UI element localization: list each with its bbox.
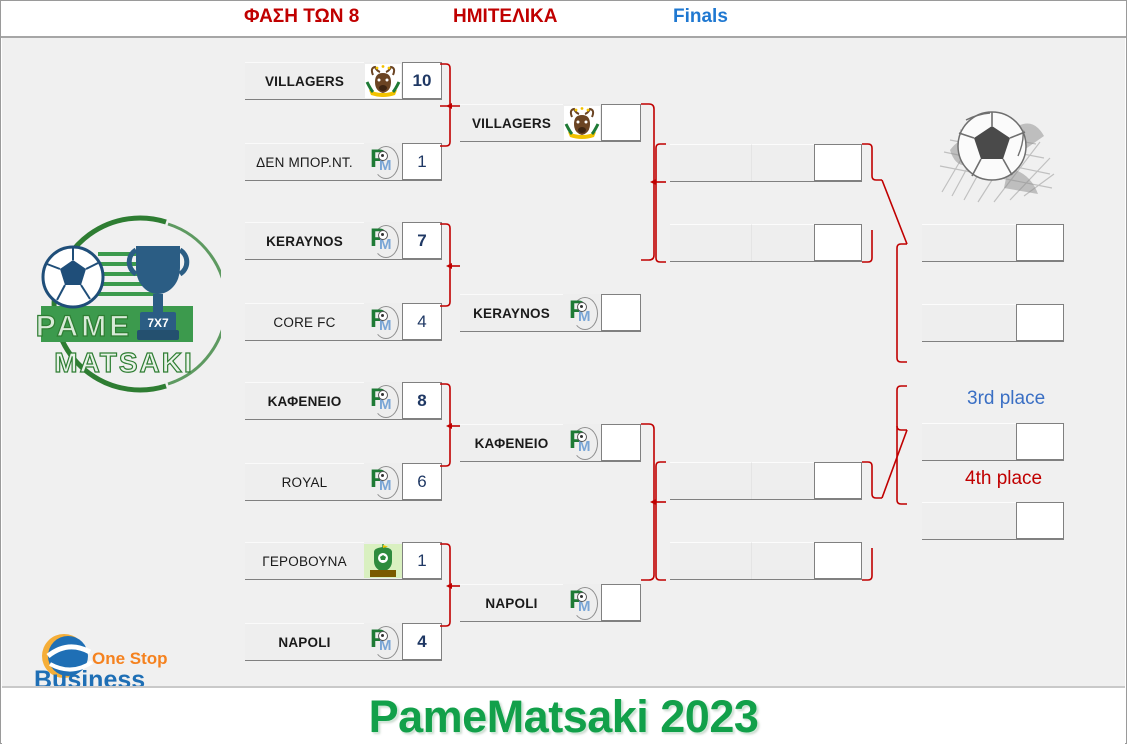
team-logo-pame-matsaki: PM — [563, 424, 601, 461]
qf-slot-m1-t1[interactable]: VILLAGERS — [245, 62, 442, 100]
team-name: VILLAGERS — [245, 62, 364, 99]
footer-title: PameMatsaki 2023 — [369, 691, 759, 743]
winner-slot-1[interactable] — [922, 224, 1064, 262]
third-team-name-2 — [670, 542, 751, 579]
team-score: 4 — [402, 623, 442, 660]
third-slot-1[interactable] — [670, 462, 862, 500]
pame-matsaki-main-logo: 7X7 PAME MATSAKI — [16, 210, 221, 398]
team-logo-pame-matsaki: PM — [364, 222, 402, 259]
final-spacer-1 — [751, 144, 814, 181]
winner-score-2 — [1016, 304, 1064, 341]
team-name: KERAYNOS — [245, 222, 364, 259]
sf-slot-m1-t1[interactable]: VILLAGERS — [460, 104, 641, 142]
team-logo-pame-matsaki: PM — [364, 463, 402, 500]
round-label-semifinals: ΗΜΙΤΕΛΙΚΑ — [453, 6, 558, 28]
team-score: 4 — [402, 303, 442, 340]
svg-text:7X7: 7X7 — [147, 316, 169, 330]
qf-slot-m4-t2[interactable]: NAPOLI PM 4 — [245, 623, 442, 661]
team-score — [601, 424, 641, 461]
qf-slot-m3-t2[interactable]: ROYAL PM 6 — [245, 463, 442, 501]
team-name: NAPOLI — [460, 584, 563, 621]
team-logo-pame-matsaki: PM — [364, 143, 402, 180]
winner-score-1 — [1016, 224, 1064, 261]
team-score: 10 — [402, 62, 442, 99]
round-label-quarterfinals: ΦΑΣΗ ΤΩΝ 8 — [244, 6, 359, 28]
winner-team-name-2 — [922, 304, 1016, 341]
team-logo-pame-matsaki: PM — [563, 294, 601, 331]
team-logo-pame-matsaki: PM — [364, 623, 402, 660]
team-logo-pame-matsaki: PM — [364, 303, 402, 340]
qf-slot-m2-t2[interactable]: CORE FC PM 4 — [245, 303, 442, 341]
team-name: ROYAL — [245, 463, 364, 500]
team-name: NAPOLI — [245, 623, 364, 660]
third-spacer-1 — [751, 462, 814, 499]
sf-slot-m2-t1[interactable]: ΚΑΦΕΝΕΙΟ PM — [460, 424, 641, 462]
round-header-strip: ΦΑΣΗ ΤΩΝ 8 ΗΜΙΤΕΛΙΚΑ Finals — [1, 1, 1126, 38]
third-score-1 — [814, 462, 862, 499]
team-name: KERAYNOS — [460, 294, 563, 331]
qf-slot-m3-t1[interactable]: ΚΑΦΕΝΕΙΟ PM 8 — [245, 382, 442, 420]
bracket-page: ΦΑΣΗ ΤΩΝ 8 ΗΜΙΤΕΛΙΚΑ Finals — [0, 0, 1127, 744]
third-place-slot[interactable] — [922, 423, 1064, 461]
third-place-label: 3rd place — [967, 388, 1045, 410]
bracket-canvas: 7X7 PAME MATSAKI One Stop Business συνερ… — [2, 38, 1125, 686]
final-slot-1[interactable] — [670, 144, 862, 182]
final-spacer-2 — [751, 224, 814, 261]
soccer-ball-net-sketch — [932, 96, 1062, 218]
fourth-place-team-name — [922, 502, 1016, 539]
round-label-finals: Finals — [673, 6, 728, 28]
sf-slot-m2-t2[interactable]: NAPOLI PM — [460, 584, 641, 622]
team-name: ΔΕΝ ΜΠΟΡ.ΝΤ. — [245, 143, 364, 180]
winner-team-name-1 — [922, 224, 1016, 261]
team-logo-villagers-crest — [563, 104, 601, 141]
svg-text:MATSAKI: MATSAKI — [54, 347, 193, 378]
fourth-place-label: 4th place — [965, 468, 1042, 490]
third-score-2 — [814, 542, 862, 579]
final-slot-2[interactable] — [670, 224, 862, 262]
team-logo-pame-matsaki: PM — [364, 382, 402, 419]
team-name: ΓΕΡΟΒΟΥΝΑ — [245, 542, 364, 579]
sf-slot-m1-t2[interactable]: KERAYNOS PM — [460, 294, 641, 332]
team-logo-villagers-crest — [364, 62, 402, 99]
qf-slot-m2-t1[interactable]: KERAYNOS PM 7 — [245, 222, 442, 260]
final-score-1 — [814, 144, 862, 181]
final-team-name-1 — [670, 144, 751, 181]
team-name: ΚΑΦΕΝΕΙΟ — [245, 382, 364, 419]
team-score: 7 — [402, 222, 442, 259]
team-name: CORE FC — [245, 303, 364, 340]
qf-slot-m1-t2[interactable]: ΔΕΝ ΜΠΟΡ.ΝΤ. PM 1 — [245, 143, 442, 181]
final-team-name-2 — [670, 224, 751, 261]
third-slot-2[interactable] — [670, 542, 862, 580]
team-score — [601, 584, 641, 621]
qf-slot-m4-t1[interactable]: ΓΕΡΟΒΟΥΝΑ 1 — [245, 542, 442, 580]
third-spacer-2 — [751, 542, 814, 579]
fourth-place-slot[interactable] — [922, 502, 1064, 540]
team-score: 1 — [402, 143, 442, 180]
final-score-2 — [814, 224, 862, 261]
team-logo-pame-matsaki: PM — [563, 584, 601, 621]
winner-slot-2[interactable] — [922, 304, 1064, 342]
team-score: 6 — [402, 463, 442, 500]
third-place-team-name — [922, 423, 1016, 460]
team-score — [601, 294, 641, 331]
team-name: ΚΑΦΕΝΕΙΟ — [460, 424, 563, 461]
team-name: VILLAGERS — [460, 104, 563, 141]
fourth-place-score — [1016, 502, 1064, 539]
footer-banner: PameMatsaki 2023 — [2, 686, 1125, 745]
third-team-name-1 — [670, 462, 751, 499]
team-logo-gerovouna-crest — [364, 542, 402, 579]
team-score: 8 — [402, 382, 442, 419]
team-score: 1 — [402, 542, 442, 579]
svg-text:PAME: PAME — [36, 310, 132, 343]
third-place-score — [1016, 423, 1064, 460]
team-score — [601, 104, 641, 141]
